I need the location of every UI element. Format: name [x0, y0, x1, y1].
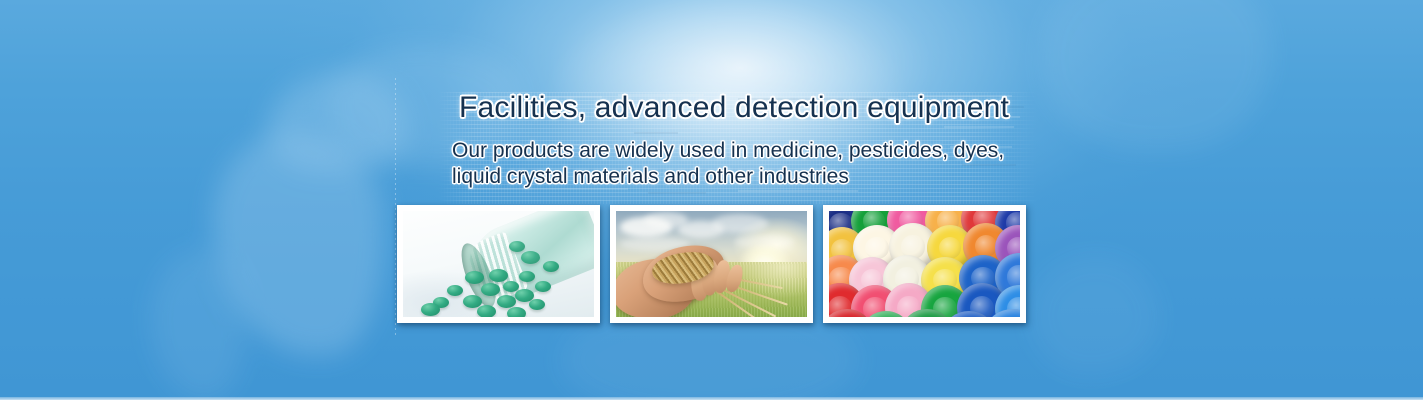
banner-subheadline-line-1: Our products are widely used in medicine…	[452, 138, 1004, 164]
pill	[509, 241, 525, 252]
cloud	[712, 214, 768, 233]
pill	[489, 269, 508, 282]
medicine-photo	[403, 211, 594, 317]
medicine-thumbnail[interactable]	[397, 205, 600, 323]
promo-banner: Facilities, advanced detection equipment…	[0, 0, 1423, 400]
pesticides-thumbnail[interactable]	[610, 205, 813, 323]
pill	[421, 303, 440, 316]
product-thumbnail-gallery	[397, 205, 1026, 323]
pill	[465, 271, 484, 284]
pill	[535, 281, 551, 292]
pill	[529, 299, 545, 310]
pill	[507, 307, 526, 317]
pill	[519, 271, 535, 282]
dyes-photo	[829, 211, 1020, 317]
pesticides-photo	[616, 211, 807, 317]
pill	[477, 305, 496, 317]
pill	[447, 285, 463, 296]
background-gradient	[0, 0, 1423, 400]
pill	[497, 295, 516, 308]
pill	[481, 283, 500, 296]
banner-subheadline: Our products are widely used in medicine…	[452, 138, 1004, 190]
pill	[521, 251, 540, 264]
dyes-thumbnail[interactable]	[823, 205, 1026, 323]
pill	[543, 261, 559, 272]
banner-headline: Facilities, advanced detection equipment	[459, 91, 1009, 125]
banner-subheadline-line-2: liquid crystal materials and other indus…	[452, 164, 1004, 190]
